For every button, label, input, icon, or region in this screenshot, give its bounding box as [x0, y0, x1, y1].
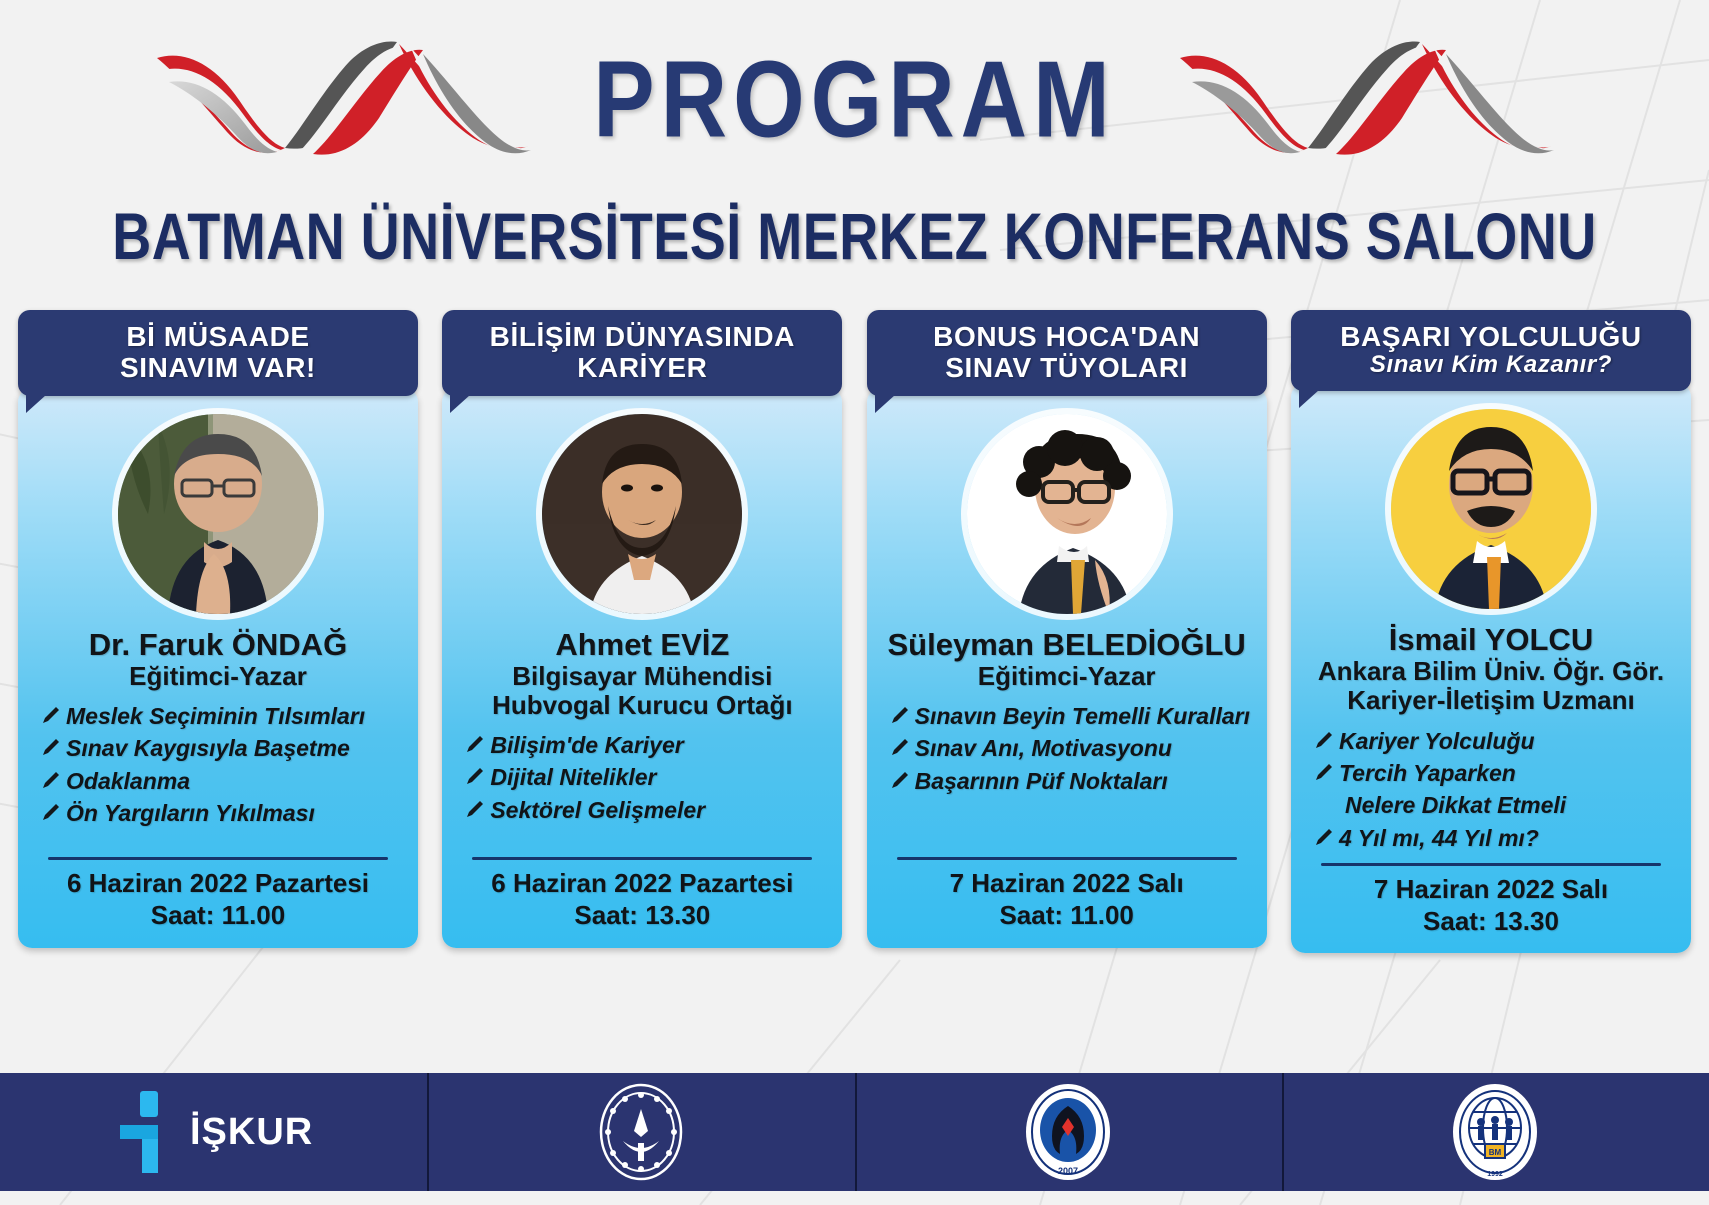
- topic-item: Meslek Seçiminin Tılsımları: [40, 701, 406, 731]
- banner-line-1: Bİ MÜSAADE: [26, 321, 410, 352]
- session-time: Saat: 11.00: [879, 900, 1255, 932]
- pen-icon: [464, 734, 484, 754]
- pen-icon: [464, 766, 484, 786]
- speaker-photo-suleyman-beledioglu: [967, 414, 1167, 614]
- avatar-wrap: [454, 414, 830, 614]
- banner-line-2: SINAVIM VAR!: [26, 352, 410, 383]
- topic-text: Sınav Anı, Motivasyonu: [915, 733, 1172, 763]
- topic-list: Meslek Seçiminin Tılsımları Sınav Kaygıs…: [30, 701, 406, 849]
- iskur-mark-icon: [114, 1091, 176, 1173]
- card-banner: Bİ MÜSAADE SINAVIM VAR!: [18, 310, 418, 396]
- speaker-title: Bilgisayar Mühendisi Hubvogal Kurucu Ort…: [454, 662, 830, 720]
- topic-text: Tercih Yaparken: [1339, 758, 1516, 788]
- swoosh-flag-icon-right: [1176, 40, 1556, 160]
- speaker-title: Eğitimci-Yazar: [879, 662, 1255, 691]
- session-date: 6 Haziran 2022 Pazartesi: [30, 868, 406, 900]
- banner-line-1: BONUS HOCA'DAN: [875, 321, 1259, 352]
- speaker-title: Ankara Bilim Üniv. Öğr. Gör. Kariyer-İle…: [1303, 657, 1679, 715]
- speaker-name: İsmail YOLCU: [1303, 623, 1679, 657]
- iskur-label: İŞKUR: [190, 1111, 313, 1154]
- pen-icon: [889, 705, 909, 725]
- avatar-wrap: [879, 414, 1255, 614]
- avatar-wrap: [30, 414, 406, 614]
- session-card[interactable]: BAŞARI YOLCULUĞU Sınavı Kim Kazanır?: [1291, 310, 1691, 953]
- pen-icon: [40, 770, 60, 790]
- topic-text: Sınavın Beyin Temelli Kuralları: [915, 701, 1250, 731]
- speaker-name: Ahmet EVİZ: [454, 628, 830, 662]
- banner-line-2: KARİYER: [450, 352, 834, 383]
- pen-icon: [464, 799, 484, 819]
- divider: [897, 857, 1237, 860]
- card-banner: BONUS HOCA'DAN SINAV TÜYOLARI: [867, 310, 1267, 396]
- topic-item: Sınav Anı, Motivasyonu: [889, 733, 1255, 763]
- batman-il-milli-egitim-seal-logo: BM 1992: [1451, 1082, 1539, 1182]
- topic-list: Sınavın Beyin Temelli Kuralları Sınav An…: [879, 701, 1255, 849]
- topic-item: Odaklanma: [40, 766, 406, 796]
- topic-list: Kariyer Yolculuğu Tercih Yaparken Nelere…: [1303, 726, 1679, 855]
- divider: [1321, 863, 1661, 866]
- pen-icon: [40, 802, 60, 822]
- session-card[interactable]: BONUS HOCA'DAN SINAV TÜYOLARI: [867, 310, 1267, 953]
- speaker-title: Eğitimci-Yazar: [30, 662, 406, 691]
- banner-line-1: BİLİŞİM DÜNYASINDA: [450, 321, 834, 352]
- topic-item-continuation: Nelere Dikkat Etmeli: [1313, 790, 1679, 820]
- pen-icon: [1313, 827, 1333, 847]
- topic-text: Meslek Seçiminin Tılsımları: [66, 701, 365, 731]
- swoosh-flag-icon-left: [153, 40, 533, 160]
- topic-text: Başarının Püf Noktaları: [915, 766, 1168, 796]
- banner-line-2: Sınavı Kim Kazanır?: [1299, 352, 1683, 379]
- pen-icon: [40, 705, 60, 725]
- venue-title: BATMAN ÜNİVERSİTESİ MERKEZ KONFERANS SAL…: [0, 199, 1709, 275]
- session-time: Saat: 11.00: [30, 900, 406, 932]
- topic-text: 4 Yıl mı, 44 Yıl mı?: [1339, 823, 1539, 853]
- batman-universitesi-seal-logo: 2007: [1024, 1082, 1112, 1182]
- topic-item: Ön Yargıların Yıkılması: [40, 798, 406, 828]
- avatar-wrap: [1303, 409, 1679, 609]
- footer-logo-cell[interactable]: İŞKUR: [0, 1073, 427, 1191]
- topic-text: Sınav Kaygısıyla Başetme: [66, 733, 350, 763]
- poster-header: PROGRAM: [0, 0, 1709, 200]
- topic-text: Sektörel Gelişmeler: [490, 795, 705, 825]
- speaker-name: Dr. Faruk ÖNDAĞ: [30, 628, 406, 662]
- speaker-photo-faruk-ondag: [118, 414, 318, 614]
- topic-item: Başarının Püf Noktaları: [889, 766, 1255, 796]
- topic-item: Sektörel Gelişmeler: [464, 795, 830, 825]
- banner-line-2: SINAV TÜYOLARI: [875, 352, 1259, 383]
- topic-text: Kariyer Yolculuğu: [1339, 726, 1535, 756]
- sponsor-footer: İŞKUR: [0, 1073, 1709, 1191]
- banner-line-1: BAŞARI YOLCULUĞU: [1299, 321, 1683, 352]
- session-date: 7 Haziran 2022 Salı: [879, 868, 1255, 900]
- topic-list: Bilişim'de Kariyer Dijital Nitelikler Se…: [454, 730, 830, 849]
- program-poster: PROGRAM BATMAN ÜNİVERSİTESİ MERKEZ KONFE…: [0, 0, 1709, 1205]
- topic-item: Dijital Nitelikler: [464, 762, 830, 792]
- milli-egitim-bakanligi-seal-logo: [599, 1083, 683, 1181]
- speaker-photo-ahmet-eviz: [542, 414, 742, 614]
- pen-icon: [40, 737, 60, 757]
- card-body: Dr. Faruk ÖNDAĞ Eğitimci-Yazar Meslek Se…: [18, 388, 418, 948]
- topic-item: Bilişim'de Kariyer: [464, 730, 830, 760]
- page-title: PROGRAM: [593, 38, 1115, 162]
- topic-text: Odaklanma: [66, 766, 190, 796]
- topic-text: Dijital Nitelikler: [490, 762, 656, 792]
- footer-logo-cell[interactable]: 2007: [855, 1073, 1282, 1191]
- card-banner: BAŞARI YOLCULUĞU Sınavı Kim Kazanır?: [1291, 310, 1691, 391]
- topic-item: Sınav Kaygısıyla Başetme: [40, 733, 406, 763]
- topic-text: Ön Yargıların Yıkılması: [66, 798, 315, 828]
- footer-logo-cell[interactable]: [427, 1073, 854, 1191]
- session-time: Saat: 13.30: [1303, 906, 1679, 938]
- svg-text:BM: BM: [1489, 1148, 1502, 1157]
- pen-icon: [1313, 730, 1333, 750]
- session-date: 6 Haziran 2022 Pazartesi: [454, 868, 830, 900]
- pen-icon: [889, 737, 909, 757]
- svg-text:2007: 2007: [1058, 1166, 1078, 1176]
- card-body: İsmail YOLCU Ankara Bilim Üniv. Öğr. Gör…: [1291, 383, 1691, 953]
- topic-text: Nelere Dikkat Etmeli: [1345, 790, 1566, 820]
- card-body: Süleyman BELEDİOĞLU Eğitimci-Yazar Sınav…: [867, 388, 1267, 948]
- pen-icon: [889, 770, 909, 790]
- topic-item: Sınavın Beyin Temelli Kuralları: [889, 701, 1255, 731]
- topic-item: Tercih Yaparken: [1313, 758, 1679, 788]
- session-time: Saat: 13.30: [454, 900, 830, 932]
- speaker-photo-ismail-yolcu: [1391, 409, 1591, 609]
- divider: [48, 857, 388, 860]
- divider: [472, 857, 812, 860]
- session-date: 7 Haziran 2022 Salı: [1303, 874, 1679, 906]
- iskur-logo: İŞKUR: [114, 1091, 313, 1173]
- session-cards: Bİ MÜSAADE SINAVIM VAR!: [0, 310, 1709, 953]
- session-card[interactable]: Bİ MÜSAADE SINAVIM VAR!: [18, 310, 418, 953]
- session-card[interactable]: BİLİŞİM DÜNYASINDA KARİYER: [442, 310, 842, 953]
- card-banner: BİLİŞİM DÜNYASINDA KARİYER: [442, 310, 842, 396]
- card-body: Ahmet EVİZ Bilgisayar Mühendisi Hubvogal…: [442, 388, 842, 948]
- pen-icon: [1313, 762, 1333, 782]
- topic-item: Kariyer Yolculuğu: [1313, 726, 1679, 756]
- svg-text:1992: 1992: [1488, 1171, 1504, 1178]
- topic-item: 4 Yıl mı, 44 Yıl mı?: [1313, 823, 1679, 853]
- topic-text: Bilişim'de Kariyer: [490, 730, 683, 760]
- speaker-name: Süleyman BELEDİOĞLU: [879, 628, 1255, 662]
- footer-logo-cell[interactable]: BM 1992: [1282, 1073, 1709, 1191]
